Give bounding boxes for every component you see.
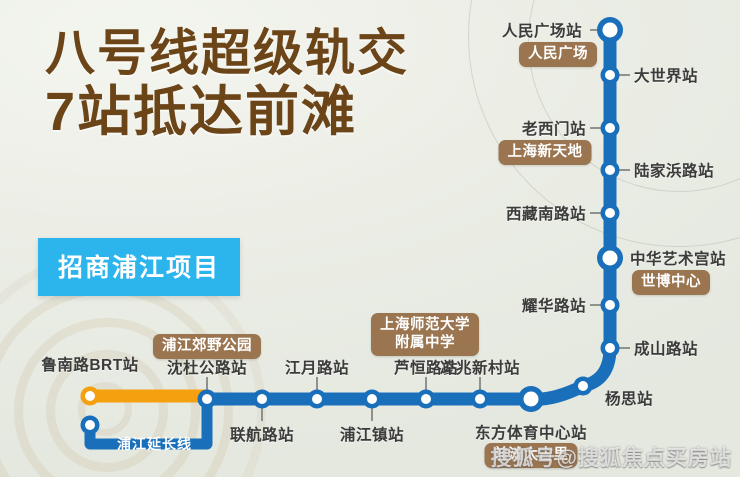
poi-tag-line: 世博中心 bbox=[641, 273, 701, 291]
station-shendu-gonglu bbox=[202, 394, 212, 404]
station-label-pujiang-zhen: 浦江镇站 bbox=[340, 423, 404, 445]
station-lingzhao-xincun bbox=[475, 394, 485, 404]
station-lunan-lu-brt bbox=[85, 391, 95, 401]
station-label-lianhang-lu: 联航路站 bbox=[230, 423, 294, 445]
station-label-jiangyue-lu: 江月路站 bbox=[285, 356, 349, 378]
transit-map-poster: 八号线超级轨交 7站抵达前滩 招商浦江项目 人民广场站大世界站老西门站陆家浜路站… bbox=[0, 0, 740, 477]
station-label-dongfang-tiyu: 东方体育中心站 bbox=[475, 421, 587, 443]
station-lujiabang-lu bbox=[605, 165, 615, 175]
station-label-lujiabang-lu: 陆家浜路站 bbox=[634, 159, 714, 181]
station-label-dashijie: 大世界站 bbox=[634, 64, 698, 86]
station-zhonghua-yishugong bbox=[603, 251, 618, 266]
poi-renmin-guangchang: 人民广场 bbox=[519, 42, 597, 67]
station-label-xizang-nanlu: 西藏南路站 bbox=[506, 202, 586, 224]
station-label-renmin-guangchang: 人民广场站 bbox=[502, 19, 582, 41]
station-renmin-guangchang bbox=[603, 23, 618, 38]
poi-tag-line: 附属中学 bbox=[380, 334, 470, 352]
station-dashijie bbox=[605, 70, 615, 80]
station-chengshan-lu bbox=[605, 343, 615, 353]
station-label-chengshan-lu: 成山路站 bbox=[634, 337, 698, 359]
station-label-laoximen: 老西门站 bbox=[522, 117, 586, 139]
station-lianhang-lu bbox=[257, 394, 267, 404]
station-label-lunan-lu-brt: 鲁南路BRT站 bbox=[41, 353, 138, 375]
station-jiangyue-lu bbox=[312, 394, 322, 404]
poi-shida-fuzhong: 上海师范大学附属中学 bbox=[371, 313, 479, 356]
poi-pujiang-jiaoye: 浦江郊野公园 bbox=[153, 334, 261, 359]
poi-tag-line: 上海新天地 bbox=[508, 143, 583, 161]
poi-tag-line: 人民广场 bbox=[528, 45, 588, 63]
station-pujiang-zhen bbox=[367, 394, 377, 404]
poi-tag-line: 浦江郊野公园 bbox=[162, 337, 252, 355]
station-label-luheng-lu: 芦恒路站 bbox=[394, 356, 458, 378]
station-laoximen bbox=[605, 123, 615, 133]
station-xizang-nanlu bbox=[605, 208, 615, 218]
station-yangsi bbox=[578, 381, 588, 391]
station-luheng-lu bbox=[421, 394, 431, 404]
watermark: 搜狐号@搜狐焦点买房站 bbox=[491, 442, 732, 472]
branch-line-label: 浦江延长线 bbox=[117, 434, 192, 454]
station-pujiang-branch-end bbox=[85, 420, 95, 430]
station-label-yaohua-lu: 耀华路站 bbox=[522, 294, 586, 316]
rail-lines bbox=[90, 30, 610, 444]
station-markers bbox=[81, 17, 624, 435]
station-label-zhonghua-yishugong: 中华艺术宫站 bbox=[630, 247, 726, 269]
poi-xintiandi: 上海新天地 bbox=[499, 140, 592, 165]
station-yaohua-lu bbox=[605, 300, 615, 310]
station-dongfang-tiyu bbox=[524, 392, 539, 407]
station-label-yangsi: 杨思站 bbox=[605, 387, 653, 409]
poi-shibo-zhongxin: 世博中心 bbox=[632, 270, 710, 295]
station-label-shendu-gonglu: 沈杜公路站 bbox=[167, 356, 247, 378]
poi-tag-line: 上海师范大学 bbox=[380, 316, 470, 334]
